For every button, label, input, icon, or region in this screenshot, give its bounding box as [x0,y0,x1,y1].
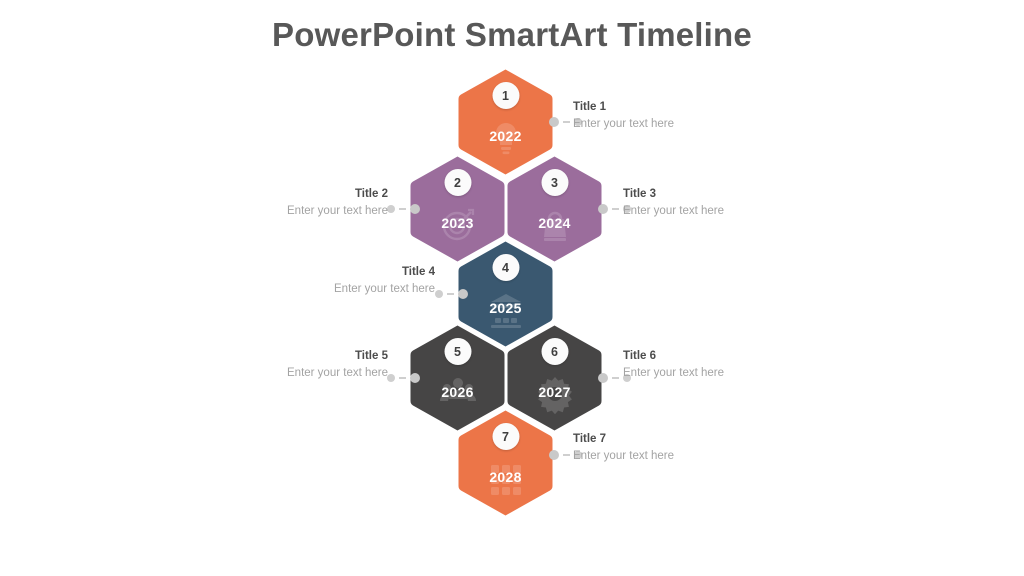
connector-dot-large-2 [410,204,420,214]
connector-dot-small-2 [387,205,395,213]
node-badge-2: 2 [444,169,471,196]
node-description-2[interactable]: Enter your text here [188,203,388,220]
node-badge-6: 6 [541,338,568,365]
node-year-3: 2024 [506,215,603,231]
node-title-2: Title 2 [188,186,388,203]
smartart-timeline-diagram: 2022 1 Title 1 Enter your text here [0,0,1024,576]
connector-dot-small-5 [387,374,395,382]
connector-dot-large-7 [549,450,559,460]
node-badge-5: 5 [444,338,471,365]
node-year-7: 2028 [457,469,554,485]
connector-dash-1 [563,121,570,123]
node-title-4: Title 4 [235,264,435,281]
node-description-6[interactable]: Enter your text here [623,365,823,382]
connector-dash-7 [563,454,570,456]
node-title-7: Title 7 [573,431,773,448]
node-description-5[interactable]: Enter your text here [188,365,388,382]
node-title-5: Title 5 [188,348,388,365]
connector-dot-large-4 [458,289,468,299]
connector-dot-large-3 [598,204,608,214]
node-title-3: Title 3 [623,186,823,203]
label-block-4: Title 4 Enter your text here [235,264,435,298]
connector-dash-4 [447,293,454,295]
label-block-5: Title 5 Enter your text here [188,348,388,382]
connector-dot-large-6 [598,373,608,383]
connector-dot-large-1 [549,117,559,127]
node-badge-3: 3 [541,169,568,196]
node-description-7[interactable]: Enter your text here [573,448,773,465]
connector-4 [435,289,468,299]
node-description-3[interactable]: Enter your text here [623,203,823,220]
node-year-5: 2026 [409,384,506,400]
connector-dash-3 [612,208,619,210]
node-description-1[interactable]: Enter your text here [573,116,773,133]
connector-dot-large-5 [410,373,420,383]
label-block-3: Title 3 Enter your text here [623,186,823,220]
label-block-7: Title 7 Enter your text here [573,431,773,465]
node-title-6: Title 6 [623,348,823,365]
node-year-6: 2027 [506,384,603,400]
label-block-1: Title 1 Enter your text here [573,99,773,133]
timeline-node-7[interactable]: 2028 7 [457,409,554,517]
connector-dash-6 [612,377,619,379]
node-badge-7: 7 [492,423,519,450]
node-year-1: 2022 [457,128,554,144]
node-description-4[interactable]: Enter your text here [235,281,435,298]
node-badge-1: 1 [492,82,519,109]
connector-2 [387,204,420,214]
connector-dash-2 [399,208,406,210]
node-title-1: Title 1 [573,99,773,116]
connector-dot-small-4 [435,290,443,298]
label-block-6: Title 6 Enter your text here [623,348,823,382]
node-year-4: 2025 [457,300,554,316]
connector-5 [387,373,420,383]
label-block-2: Title 2 Enter your text here [188,186,388,220]
slide-canvas: PowerPoint SmartArt Timeline 2022 1 [0,0,1024,576]
connector-dash-5 [399,377,406,379]
node-badge-4: 4 [492,254,519,281]
node-year-2: 2023 [409,215,506,231]
